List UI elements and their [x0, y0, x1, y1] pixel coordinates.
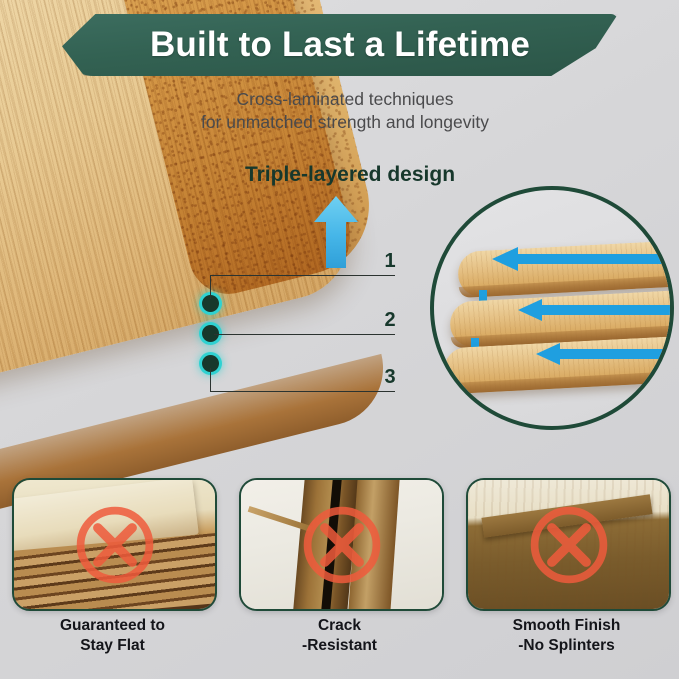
- callout-number-1: 1: [380, 250, 400, 273]
- caption-line-2: -Resistant: [239, 636, 440, 656]
- layer-detail-inset: [430, 186, 674, 430]
- layer-arrow-left-3: [536, 342, 674, 366]
- headline-text: Built to Last a Lifetime: [150, 25, 530, 65]
- caption-line-2: -No Splinters: [466, 636, 667, 656]
- callout-number-3: 3: [380, 366, 400, 389]
- layer-arrow-left-2: [518, 298, 674, 322]
- subtitle-block: Cross-laminated techniques for unmatched…: [150, 88, 540, 134]
- caption-line-1: Guaranteed to: [12, 616, 213, 636]
- up-arrow-icon: [314, 196, 358, 268]
- caption-line-2: Stay Flat: [12, 636, 213, 656]
- subtitle-line-1: Cross-laminated techniques: [150, 88, 540, 111]
- no-x-badge-icon-1: [72, 502, 158, 588]
- no-x-badge-icon-2: [299, 502, 385, 588]
- feature-caption-stay-flat: Guaranteed to Stay Flat: [12, 616, 213, 656]
- callout-connector-3-horizontal: [210, 391, 395, 392]
- callout-connector-3-vertical: [210, 368, 211, 392]
- subtitle-line-2: for unmatched strength and longevity: [150, 111, 540, 134]
- feature-panel-crack-resistant: [239, 478, 444, 611]
- bamboo-board-photo: SIC: [0, 0, 414, 539]
- infographic-canvas: SIC Built to Last a Lifetime Cross-lamin…: [0, 0, 679, 679]
- no-x-badge-icon-3: [526, 502, 612, 588]
- callout-connector-1-horizontal: [210, 275, 395, 276]
- caption-line-1: Crack: [239, 616, 440, 636]
- callout-number-2: 2: [380, 309, 400, 332]
- layer-arrow-left-1: [492, 246, 672, 272]
- feature-panel-smooth-finish: [466, 478, 671, 611]
- caption-line-1: Smooth Finish: [466, 616, 667, 636]
- feature-caption-smooth-finish: Smooth Finish -No Splinters: [466, 616, 667, 656]
- headline-banner: Built to Last a Lifetime: [62, 14, 618, 76]
- callout-connector-1-vertical: [210, 275, 211, 299]
- callout-connector-2-horizontal: [214, 334, 395, 335]
- feature-panel-stay-flat: [12, 478, 217, 611]
- section-label-triple-layered: Triple-layered design: [205, 163, 495, 187]
- feature-caption-crack-resistant: Crack -Resistant: [239, 616, 440, 656]
